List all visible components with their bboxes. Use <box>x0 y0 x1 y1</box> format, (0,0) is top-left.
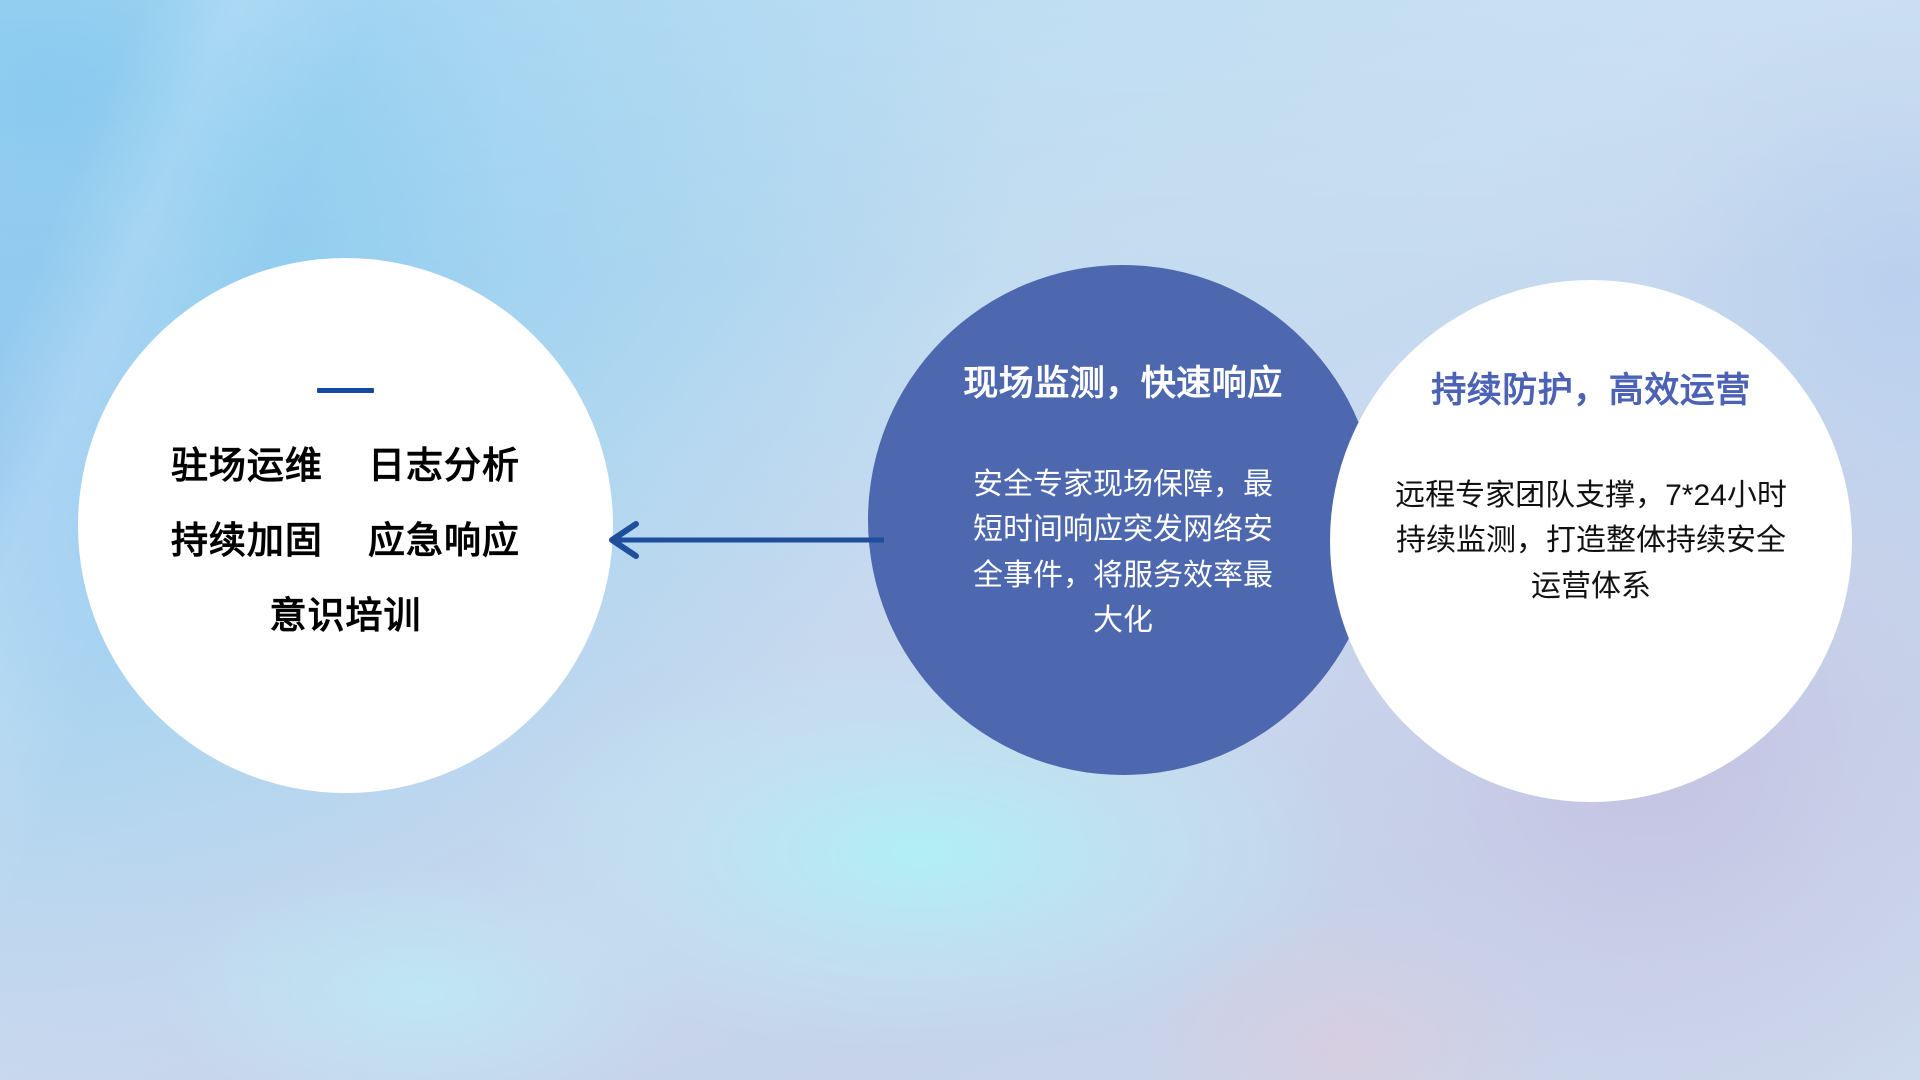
middle-circle-title: 现场监测，快速响应 <box>963 365 1283 404</box>
left-service-line-2: 持续加固 应急响应 <box>171 522 520 559</box>
right-circle-content: 持续防护，高效运营 远程专家团队支撑，7*24小时持续监测，打造整体持续安全运营… <box>1330 280 1852 802</box>
left-circle-content: 驻场运维 日志分析 持续加固 应急响应 意识培训 <box>78 258 613 793</box>
connector-arrow-left-icon <box>596 512 886 568</box>
right-circle-title: 持续防护，高效运营 <box>1431 372 1751 411</box>
left-service-line-1: 驻场运维 日志分析 <box>171 447 520 484</box>
right-circle-body: 远程专家团队支撑，7*24小时持续监测，打造整体持续安全运营体系 <box>1391 473 1791 610</box>
left-divider-rule <box>317 388 374 393</box>
middle-circle-body: 安全专家现场保障，最短时间响应突发网络安全事件，将服务效率最大化 <box>968 462 1278 644</box>
left-service-line-3: 意识培训 <box>270 597 422 634</box>
middle-circle-content: 现场监测，快速响应 安全专家现场保障，最短时间响应突发网络安全事件，将服务效率最… <box>868 265 1378 775</box>
slide-canvas: 驻场运维 日志分析 持续加固 应急响应 意识培训 现场监测，快速响应 安全专家现… <box>0 0 1920 1080</box>
